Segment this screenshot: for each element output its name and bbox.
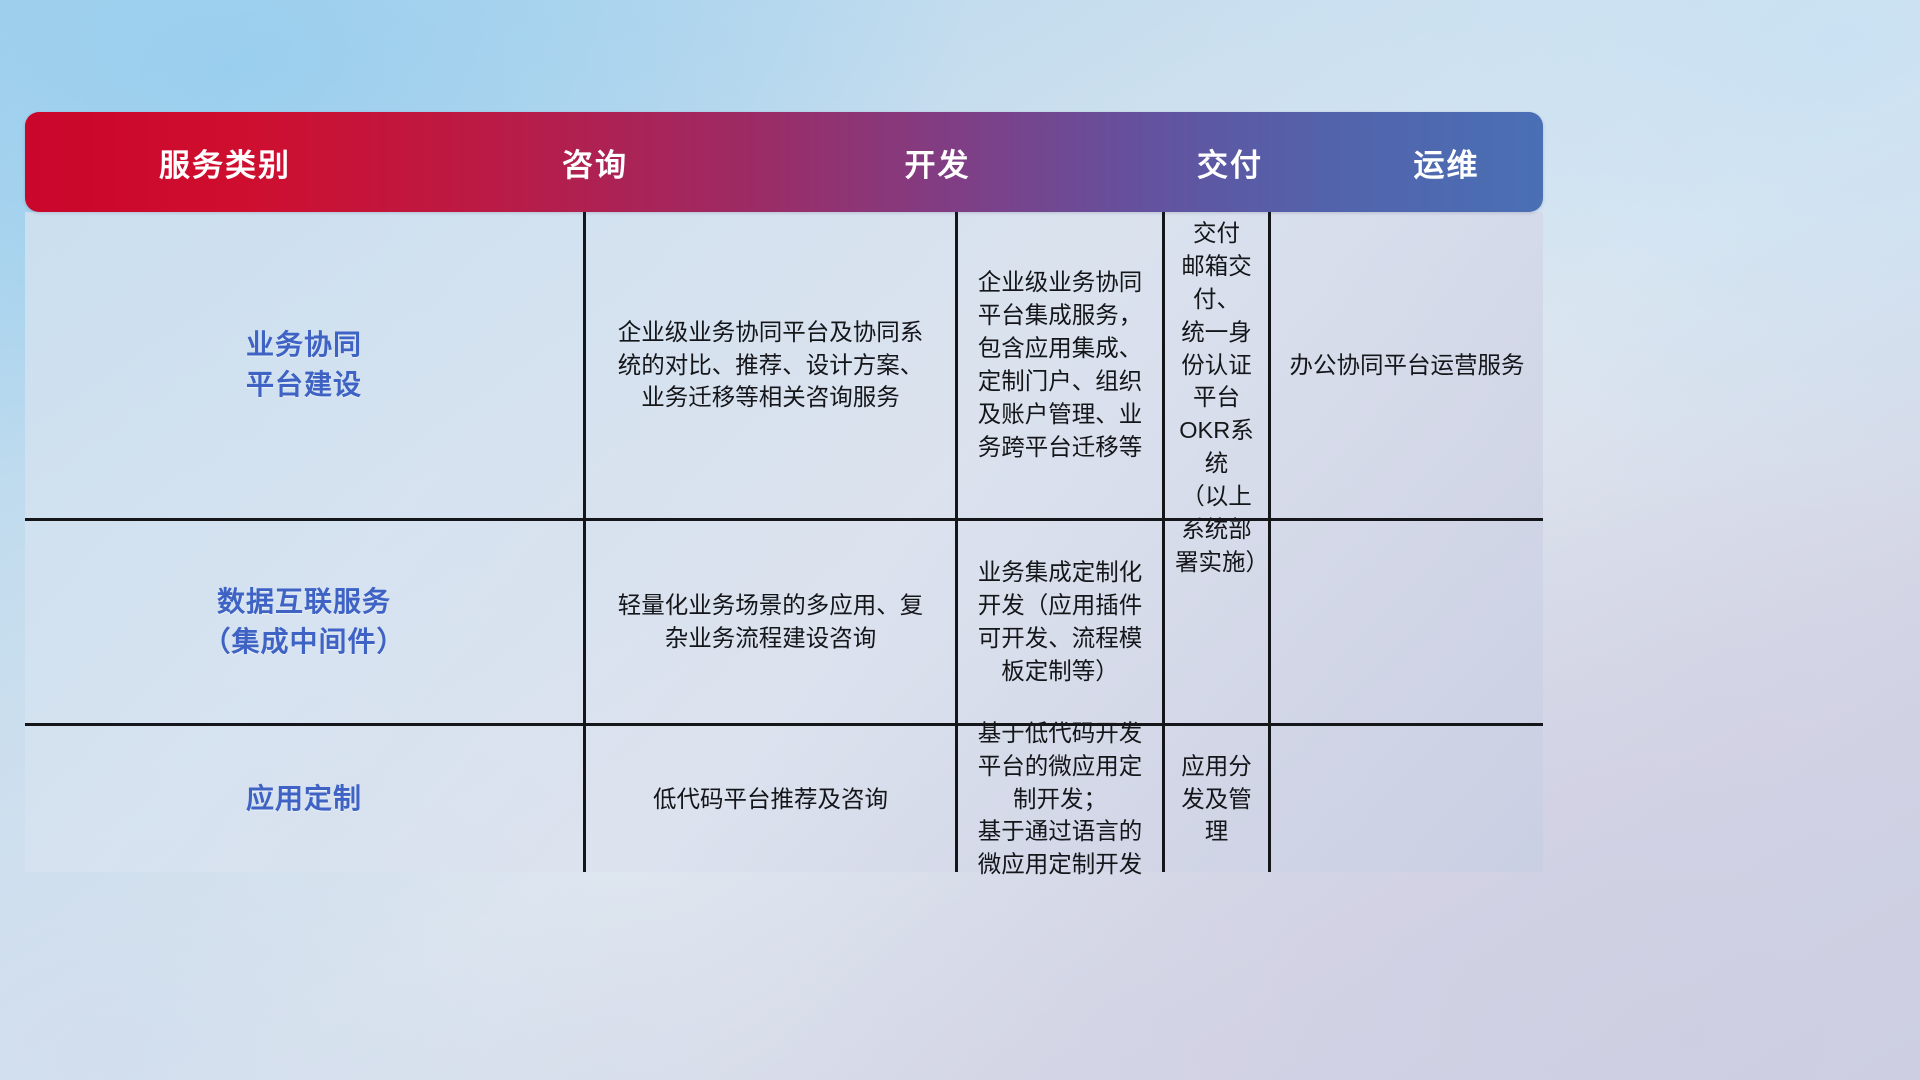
table-header-row: 服务类别 咨询 开发 交付 运维 — [25, 112, 1543, 212]
column-header-service-category: 服务类别 — [25, 140, 425, 185]
cell-consulting: 低代码平台推荐及咨询 — [583, 726, 955, 872]
service-matrix-table: 服务类别 咨询 开发 交付 运维 业务协同 平台建设 企业级业务协同平台及协同系… — [25, 112, 1543, 775]
table-row: 应用定制 低代码平台推荐及咨询 基于低代码开发平台的微应用定 制开发； 基于通过… — [25, 723, 1543, 872]
table-row: 数据互联服务 （集成中间件） 轻量化业务场景的多应用、复 杂业务流程建设咨询 业… — [25, 518, 1543, 723]
cell-operations: 办公协同平台运营服务 — [1268, 212, 1543, 518]
cell-delivery: 应用分发及管理 — [1162, 726, 1268, 872]
cell-delivery — [1162, 521, 1268, 723]
column-header-consulting: 咨询 — [425, 140, 765, 185]
table-body: 业务协同 平台建设 企业级业务协同平台及协同系 统的对比、推荐、设计方案、 业务… — [25, 212, 1543, 872]
cell-operations — [1268, 726, 1543, 872]
slide-canvas: 服务类别 咨询 开发 交付 运维 业务协同 平台建设 企业级业务协同平台及协同系… — [0, 0, 1920, 1080]
column-header-delivery: 交付 — [1110, 140, 1350, 185]
cell-operations — [1268, 521, 1543, 723]
table-row: 业务协同 平台建设 企业级业务协同平台及协同系 统的对比、推荐、设计方案、 业务… — [25, 212, 1543, 518]
cell-delivery: 项目管理平台交付 邮箱交付、 统一身份认证平台 OKR系统 （以上系统部署实施） — [1162, 212, 1268, 518]
cell-development: 业务集成定制化开发（应用插件 可开发、流程模板定制等） — [955, 521, 1162, 723]
cell-consulting: 轻量化业务场景的多应用、复 杂业务流程建设咨询 — [583, 521, 955, 723]
cell-category: 业务协同 平台建设 — [25, 212, 583, 518]
cell-development: 企业级业务协同平台集成服务， 包含应用集成、定制门户、组织 及账户管理、业务跨平… — [955, 212, 1162, 518]
column-header-operations: 运维 — [1350, 140, 1543, 185]
column-header-development: 开发 — [765, 140, 1110, 185]
cell-category: 应用定制 — [25, 726, 583, 872]
cell-category: 数据互联服务 （集成中间件） — [25, 521, 583, 723]
cell-consulting: 企业级业务协同平台及协同系 统的对比、推荐、设计方案、 业务迁移等相关咨询服务 — [583, 212, 955, 518]
cell-development: 基于低代码开发平台的微应用定 制开发； 基于通过语言的微应用定制开发 — [955, 726, 1162, 872]
